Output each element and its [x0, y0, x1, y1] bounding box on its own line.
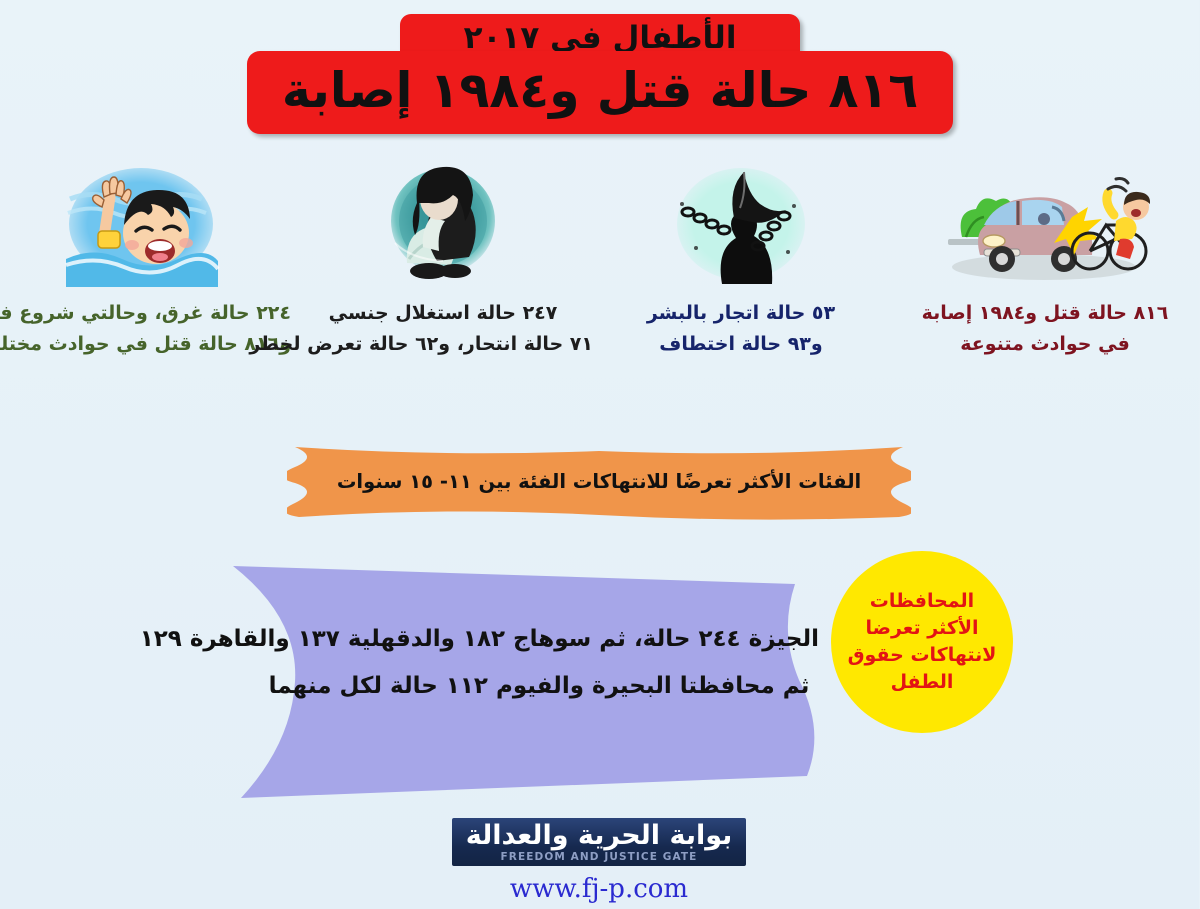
card-sexual-exploitation-caption: ٢٤٧ حالة استغلال جنسي ٧١ حالة انتحار، و٦… [294, 298, 594, 360]
card-road-accidents-caption: ٨١٦ حالة قتل و١٩٨٤ إصابة في حوادث متنوعة [896, 298, 1196, 360]
age-group-ribbon-text: الفئات الأكثر تعرضًا للانتهاكات الفئة بي… [288, 437, 912, 525]
sad-crouching-girl-illustration [294, 158, 594, 290]
site-logo-english-name: FREEDOM AND JUSTICE GATE [467, 851, 734, 863]
website-url-link[interactable]: www.fj-p.com [0, 874, 1200, 904]
site-logo: بوابة الحرية والعدالة FREEDOM AND JUSTIC… [453, 818, 748, 866]
card-human-trafficking: ٥٣ حالة اتجار بالبشر و٩٣ حالة اختطاف [592, 158, 892, 360]
car-bicycle-crash-illustration [896, 158, 1196, 290]
footer: بوابة الحرية والعدالة FREEDOM AND JUSTIC… [0, 818, 1200, 904]
title-block: الأطفال في ٢٠١٧ ٨١٦ حالة قتل و١٩٨٤ إصابة [0, 0, 1200, 150]
chained-person-silhouette-illustration [592, 158, 892, 290]
governorates-banner-text: الجيزة ٢٤٤ حالة، ثم سوهاج ١٨٢ والدقهلية … [260, 616, 820, 710]
statistic-cards-row: ٢٢٤ حالة غرق، وحالتي شروع في قتل و٨١٦ حا… [0, 158, 1200, 398]
site-logo-arabic-name: بوابة الحرية والعدالة [467, 822, 734, 850]
title-line-headline: ٨١٦ حالة قتل و١٩٨٤ إصابة [248, 51, 954, 134]
age-group-ribbon: الفئات الأكثر تعرضًا للانتهاكات الفئة بي… [288, 437, 912, 525]
card-drowning-caption: ٢٢٤ حالة غرق، وحالتي شروع في قتل و٨١٦ حا… [0, 298, 292, 360]
governorates-badge: المحافظات الأكثر تعرضا لانتهاكات حقوق ال… [832, 551, 1014, 733]
infographic-canvas: الأطفال في ٢٠١٧ ٨١٦ حالة قتل و١٩٨٤ إصابة [0, 0, 1200, 909]
card-road-accidents: ٨١٦ حالة قتل و١٩٨٤ إصابة في حوادث متنوعة [896, 158, 1196, 360]
governorates-badge-text: المحافظات الأكثر تعرضا لانتهاكات حقوق ال… [841, 588, 1006, 696]
card-drowning: ٢٢٤ حالة غرق، وحالتي شروع في قتل و٨١٦ حا… [0, 158, 292, 360]
drowning-child-illustration [0, 158, 292, 290]
card-sexual-exploitation: ٢٤٧ حالة استغلال جنسي ٧١ حالة انتحار، و٦… [294, 158, 594, 360]
card-human-trafficking-caption: ٥٣ حالة اتجار بالبشر و٩٣ حالة اختطاف [592, 298, 892, 360]
governorates-banner: الجيزة ٢٤٤ حالة، ثم سوهاج ١٨٢ والدقهلية … [232, 560, 882, 800]
